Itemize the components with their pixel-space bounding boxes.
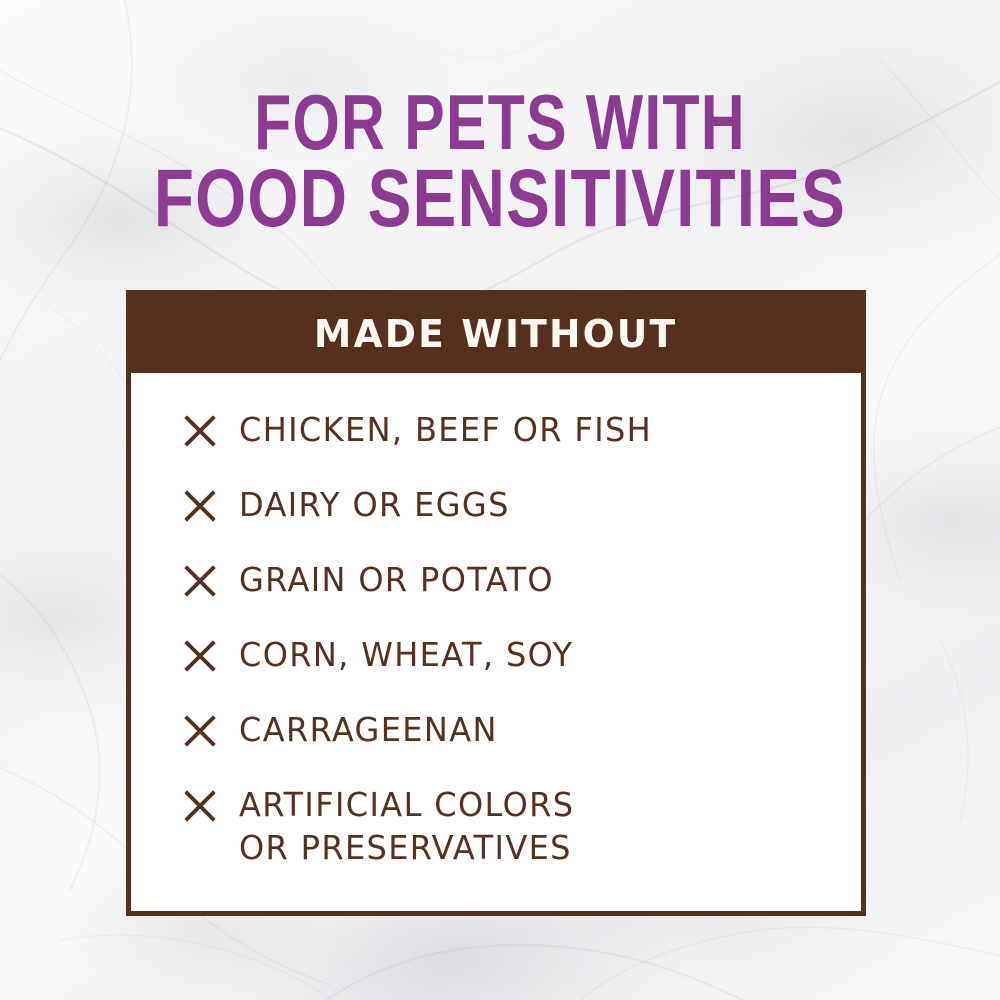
x-mark-icon xyxy=(183,489,217,523)
x-mark-icon xyxy=(183,564,217,598)
exclusions-list: CHICKEN, BEEF OR FISH DAIRY OR EGGS GRAI… xyxy=(131,373,861,870)
made-without-panel: MADE WITHOUT CHICKEN, BEEF OR FISH DAIRY… xyxy=(126,290,866,916)
x-mark-icon xyxy=(183,414,217,448)
x-mark-icon xyxy=(183,789,217,823)
list-item-label: GRAIN OR POTATO xyxy=(239,559,554,602)
list-item: CORN, WHEAT, SOY xyxy=(183,634,861,682)
list-item-label: CARRAGEENAN xyxy=(239,709,498,752)
page-title: FOR PETS WITH FOOD SENSITIVITIES xyxy=(0,86,1000,237)
headline-line-2: FOOD SENSITIVITIES xyxy=(100,161,900,237)
list-item: CARRAGEENAN xyxy=(183,709,861,757)
headline-line-1: FOR PETS WITH xyxy=(110,86,890,159)
x-mark-icon xyxy=(183,639,217,673)
x-mark-icon xyxy=(183,714,217,748)
list-item-label: CHICKEN, BEEF OR FISH xyxy=(239,409,652,452)
list-item-label: ARTIFICIAL COLORS OR PRESERVATIVES xyxy=(239,784,574,870)
panel-header: MADE WITHOUT xyxy=(131,295,861,373)
list-item: CHICKEN, BEEF OR FISH xyxy=(183,409,861,457)
list-item-label: DAIRY OR EGGS xyxy=(239,484,510,527)
list-item: GRAIN OR POTATO xyxy=(183,559,861,607)
list-item: ARTIFICIAL COLORS OR PRESERVATIVES xyxy=(183,784,861,870)
list-item-label: CORN, WHEAT, SOY xyxy=(239,634,573,677)
list-item: DAIRY OR EGGS xyxy=(183,484,861,532)
panel-header-title: MADE WITHOUT xyxy=(314,312,678,356)
